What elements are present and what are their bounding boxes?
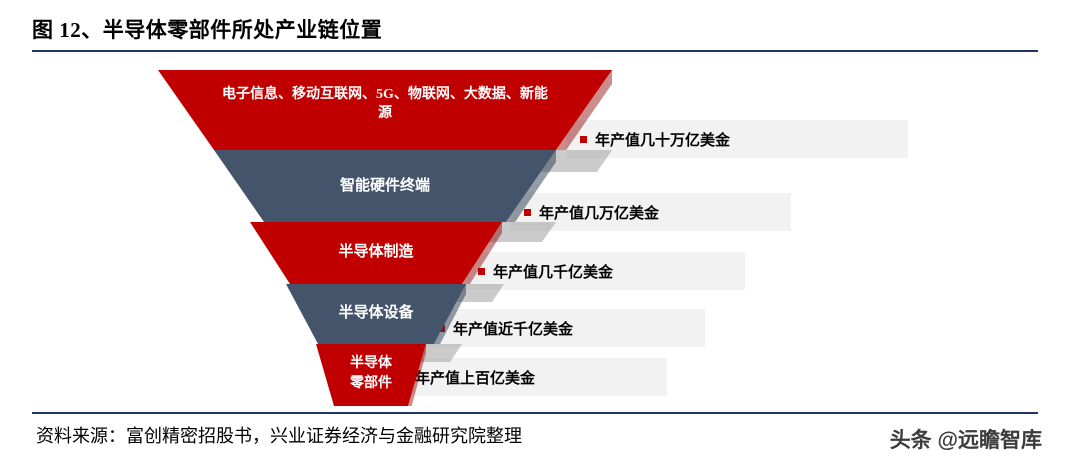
funnel-stage-5-shape [316,344,426,406]
callout-label: 年产值几万亿美金 [539,202,659,223]
callout-bar-5: 年产值上百亿美金 [386,358,667,396]
funnel-diagram: 年产值几十万亿美金 年产值几万亿美金 年产值几千亿美金 年产值近千亿美金 年产值… [0,58,1070,408]
callout-label: 年产值上百亿美金 [415,367,535,388]
title-divider [32,50,1038,52]
funnel-stage-3: 半导体制造 [250,222,502,284]
funnel-stage-3-shape [250,222,502,284]
callout-label: 年产值几十万亿美金 [595,129,730,150]
funnel-stage-2-shape [214,150,556,222]
callout-label: 年产值几千亿美金 [493,261,613,282]
callout-label: 年产值近千亿美金 [453,318,573,339]
funnel-stage-1-shape [158,70,612,150]
source-note: 资料来源：富创精密招股书，兴业证券经济与金融研究院整理 [36,422,522,448]
funnel-stage-4-shape [286,284,466,344]
figure-page: 图 12、半导体零部件所处产业链位置 年产值几十万亿美金 年产值几万亿美金 年产… [0,0,1070,470]
watermark-label: 头条 @远瞻智库 [890,424,1042,454]
funnel-stage-2: 智能硬件终端 [214,150,556,222]
figure-title-bar: 图 12、半导体零部件所处产业链位置 [32,14,1038,50]
page-title: 图 12、半导体零部件所处产业链位置 [32,14,1038,44]
callout-bar-4: 年产值近千亿美金 [424,309,705,347]
funnel-stage-4: 半导体设备 [286,284,466,344]
funnel-stage-5: 半导体 零部件 [316,344,426,406]
funnel-stage-1: 电子信息、移动互联网、5G、物联网、大数据、新能源 [158,70,612,150]
footer-divider [32,412,1038,414]
callout-bar-1: 年产值几十万亿美金 [566,120,908,158]
